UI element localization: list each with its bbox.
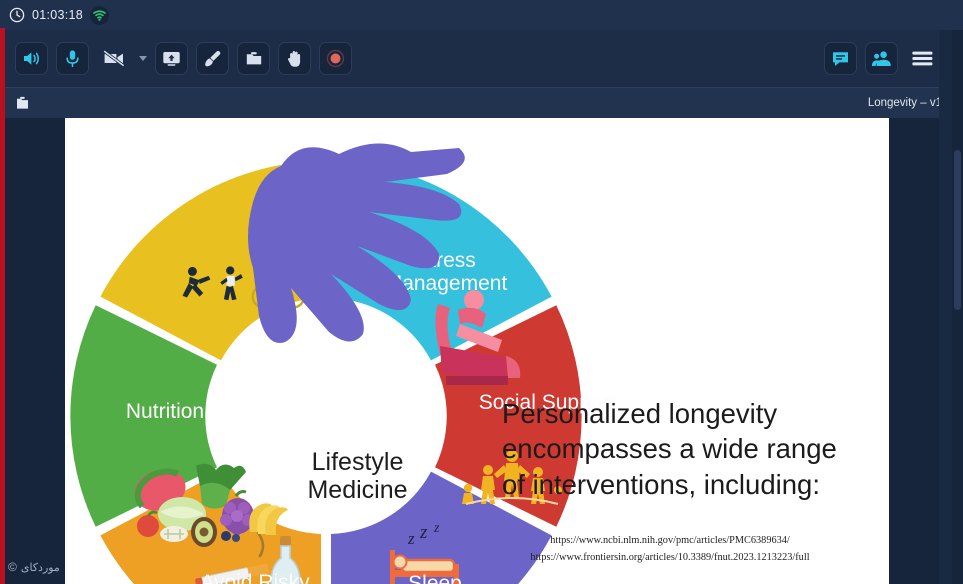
body-line-2: encompasses a wide range [502,431,862,466]
folder-icon [5,95,30,111]
files-button[interactable] [237,42,270,75]
copyright-icon: © [8,560,17,574]
right-gutter [939,30,952,584]
clock-icon [9,7,25,23]
record-button[interactable] [319,42,352,75]
body-line-1: Personalized longevity [502,396,862,431]
raise-hand-button[interactable] [278,42,311,75]
svg-text:z: z [407,529,415,548]
watermark-text: موردکای [21,561,60,574]
microphone-button[interactable] [56,42,89,75]
svg-text:z: z [433,521,440,536]
left-red-accent [0,28,5,584]
meeting-toolbar [5,30,963,87]
camera-off-button[interactable] [97,42,130,75]
chevron-down-icon[interactable] [139,56,147,61]
screen-share-button[interactable] [155,42,188,75]
document-bar: Longevity – v1 [5,87,963,118]
speaker-button[interactable] [15,42,48,75]
session-timer: 01:03:18 [32,8,83,22]
body-line-3: of interventions, including: [502,467,862,502]
meeting-window: 01:03:18 [0,0,963,584]
annotate-button[interactable] [196,42,229,75]
lifestyle-medicine-donut-chart: z z z [68,118,588,584]
svg-text:z: z [419,522,428,543]
participants-button[interactable] [865,42,898,75]
slide-stage: z z z [5,118,963,584]
document-title: Longevity – v1 [868,97,948,109]
presentation-slide[interactable]: z z z [65,118,889,584]
chat-button[interactable] [824,42,857,75]
citation-2: https://www.frontiersin.org/articles/10.… [470,550,870,567]
menu-button[interactable] [906,42,939,75]
status-bar: 01:03:18 [0,0,963,30]
slide-body-text: Personalized longevity encompasses a wid… [502,396,862,502]
slide-citations: https://www.ncbi.nlm.nih.gov/pmc/article… [470,533,870,566]
vertical-scrollbar-thumb[interactable] [954,150,961,310]
watermark: موردکای © [8,560,60,574]
toolbar-left-group [5,42,352,75]
citation-1: https://www.ncbi.nlm.nih.gov/pmc/article… [470,533,870,550]
wifi-icon [90,6,109,25]
